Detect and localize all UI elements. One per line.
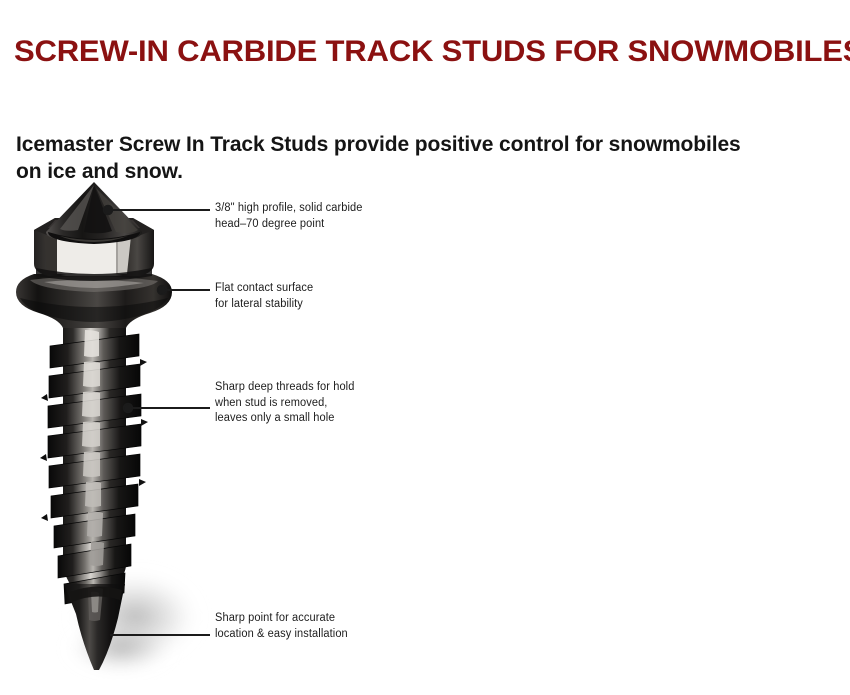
flange-base [16, 274, 172, 328]
leader-dot-head [104, 206, 113, 215]
leader-dot-flange [158, 286, 167, 295]
callout-label-point: Sharp point for accurate location & easy… [215, 611, 421, 642]
page-title: SCREW-IN CARBIDE TRACK STUDS FOR SNOWMOB… [14, 34, 850, 70]
intro-paragraph: Icemaster Screw In Track Studs provide p… [16, 131, 756, 185]
product-figure [0, 180, 850, 680]
callout-label-threads: Sharp deep threads for hold when stud is… [215, 380, 417, 427]
leader-dot-threads [124, 404, 133, 413]
callout-label-head: 3/8" high profile, solid carbide head–70… [215, 201, 417, 232]
carbide-cone-head [46, 182, 142, 244]
screw-diagram-svg [0, 180, 850, 680]
threaded-shank [40, 328, 148, 604]
callout-label-flange: Flat contact surface for lateral stabili… [215, 281, 417, 312]
page-root: SCREW-IN CARBIDE TRACK STUDS FOR SNOWMOB… [0, 0, 850, 695]
